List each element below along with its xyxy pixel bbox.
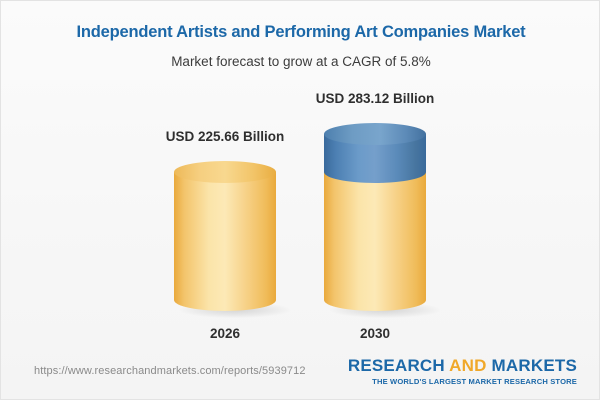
bar-category-label-2030: 2030 [360,326,390,341]
cylinder-2026 [174,161,276,311]
logo-word-research: RESEARCH [348,356,449,375]
logo-tagline: THE WORLD'S LARGEST MARKET RESEARCH STOR… [348,377,577,386]
bar-category-label-2026: 2026 [210,326,240,341]
footer: https://www.researchandmarkets.com/repor… [1,347,600,399]
logo-word-markets: MARKETS [492,356,577,375]
bar-group-2026[interactable]: USD 225.66 Billion [174,161,276,311]
chart-plot-area: USD 225.66 Billion [1,1,600,349]
bar-value-label-2030: USD 283.12 Billion [316,91,435,106]
bar-value-label-2026: USD 225.66 Billion [166,129,285,144]
logo-word-and: AND [449,356,491,375]
research-and-markets-logo[interactable]: RESEARCH AND MARKETS THE WORLD'S LARGEST… [348,357,577,386]
source-url-link[interactable]: https://www.researchandmarkets.com/repor… [34,365,306,377]
bar-group-2030[interactable]: USD 283.12 Billion [324,123,426,311]
cylinder-2030 [324,123,426,311]
logo-wordmark: RESEARCH AND MARKETS [348,357,577,375]
chart-card: Independent Artists and Performing Art C… [0,0,600,400]
